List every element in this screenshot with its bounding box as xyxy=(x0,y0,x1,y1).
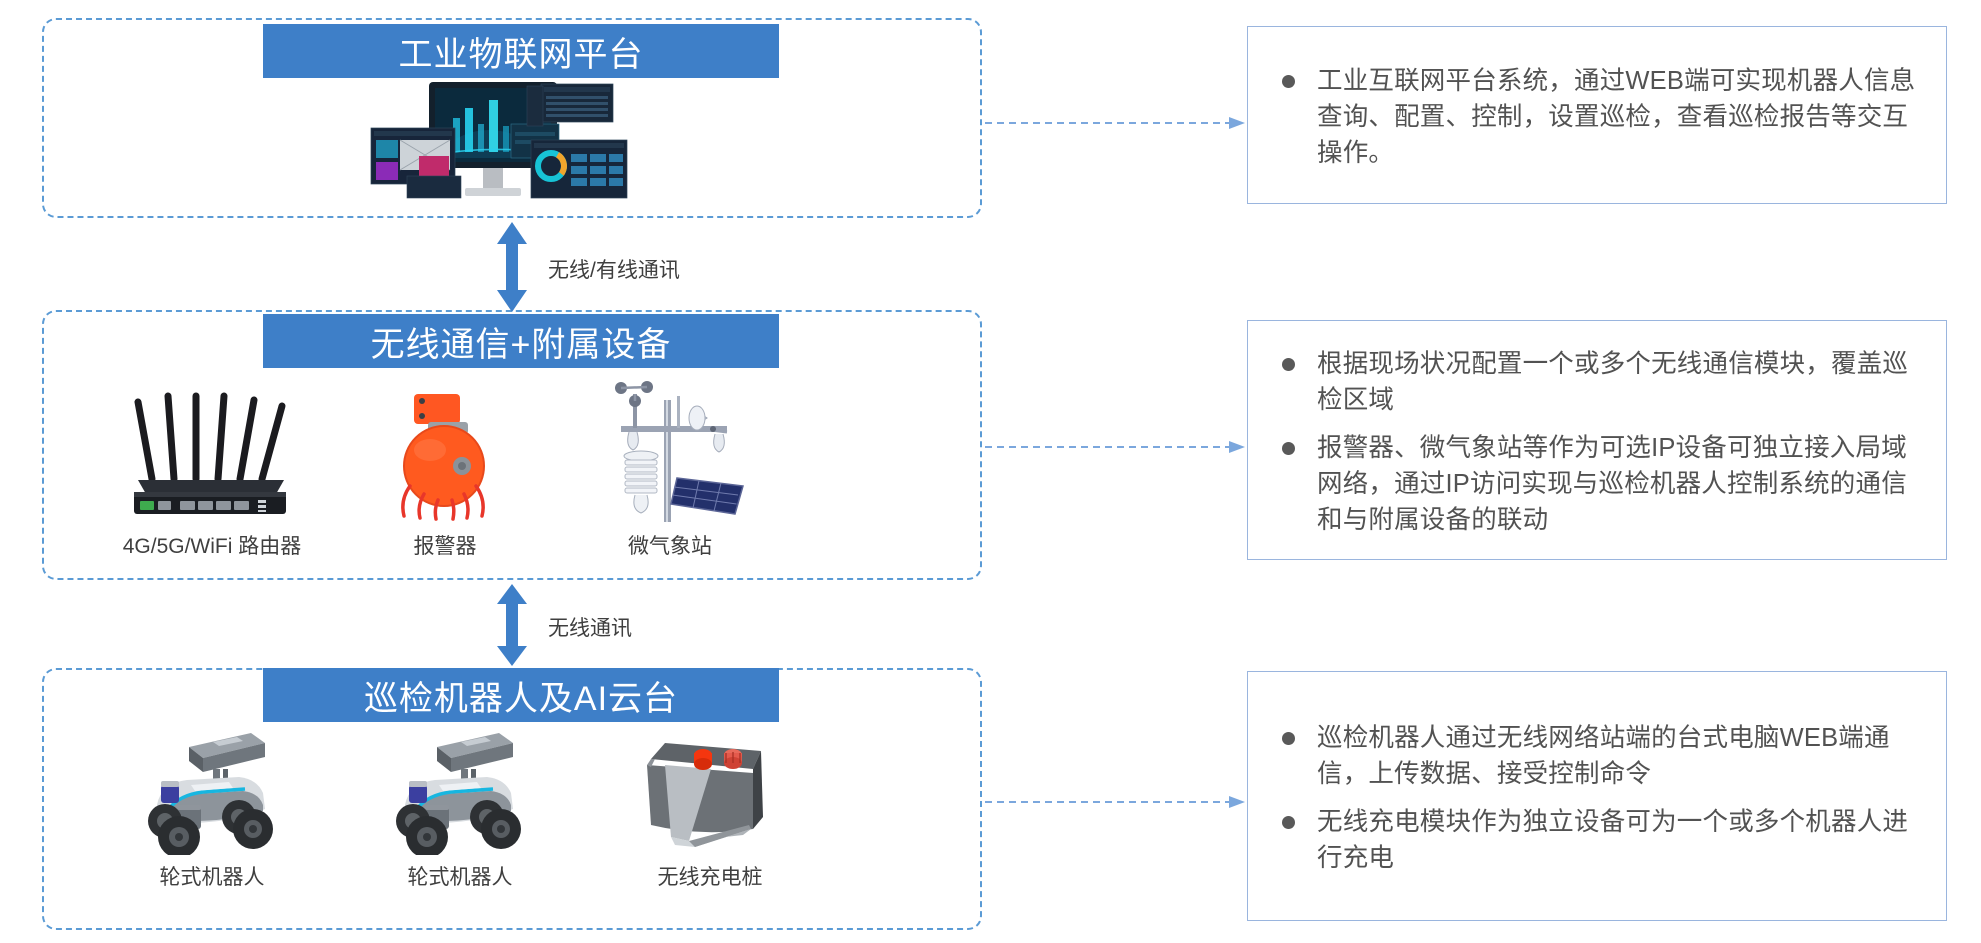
bullet-item: 无线充电模块作为独立设备可为一个或多个机器人进行充电 xyxy=(1274,804,1920,876)
device-charging-station: 无线充电桩 xyxy=(560,725,860,891)
bullet-dot-icon xyxy=(1282,358,1295,371)
description-box-platform: 工业互联网平台系统，通过WEB端可实现机器人信息查询、配置、控制，设置巡检，查看… xyxy=(1247,26,1947,204)
tier-robot-band: 巡检机器人及AI云台 xyxy=(263,668,779,722)
bullet-dot-icon xyxy=(1282,816,1295,829)
bullet-item: 报警器、微气象站等作为可选IP设备可独立接入局域网络，通过IP访问实现与巡检机器… xyxy=(1274,430,1920,539)
wheeled-robot-icon xyxy=(365,725,555,855)
device-router-label: 4G/5G/WiFi 路由器 xyxy=(123,530,302,560)
device-alarm-label: 报警器 xyxy=(414,530,477,560)
description-box-robot: 巡检机器人通过无线网络站端的台式电脑WEB端通信，上传数据、接受控制命令 无线充… xyxy=(1247,671,1947,921)
bullet-dot-icon xyxy=(1282,442,1295,455)
connector-to-desc-platform xyxy=(985,116,1245,130)
device-wheeled-robot-2-label: 轮式机器人 xyxy=(408,861,513,891)
weather-station-icon xyxy=(585,374,755,524)
connector-to-desc-comm xyxy=(985,440,1245,454)
bullet-item: 根据现场状况配置一个或多个无线通信模块，覆盖巡检区域 xyxy=(1274,346,1920,418)
tier-platform-band-label: 工业物联网平台 xyxy=(399,27,644,76)
diagram-canvas: 工业物联网平台 xyxy=(0,0,1981,943)
bullet-dot-icon xyxy=(1282,732,1295,745)
router-icon xyxy=(112,374,312,524)
tier-comm-band-label: 无线通信+附属设备 xyxy=(371,317,672,366)
alarm-bell-icon xyxy=(370,374,520,524)
description-box-comm: 根据现场状况配置一个或多个无线通信模块，覆盖巡检区域 报警器、微气象站等作为可选… xyxy=(1247,320,1947,560)
bullet-text: 工业互联网平台系统，通过WEB端可实现机器人信息查询、配置、控制，设置巡检，查看… xyxy=(1317,63,1920,172)
iot-dashboard-monitor-icon xyxy=(345,80,675,205)
tier-comm-band: 无线通信+附属设备 xyxy=(263,314,779,368)
charging-station-icon xyxy=(625,725,795,855)
tier-platform-band: 工业物联网平台 xyxy=(263,24,779,78)
device-router: 4G/5G/WiFi 路由器 xyxy=(62,374,362,560)
wheeled-robot-icon xyxy=(117,725,307,855)
device-alarm: 报警器 xyxy=(330,374,560,560)
connector-comm-to-robot xyxy=(489,584,535,666)
device-weather-station-label: 微气象站 xyxy=(628,530,712,560)
connector-comm-to-robot-label: 无线通讯 xyxy=(548,612,632,642)
bullet-dot-icon xyxy=(1282,75,1295,88)
device-wheeled-robot-1-label: 轮式机器人 xyxy=(160,861,265,891)
connector-to-desc-robot xyxy=(985,795,1245,809)
bullet-item: 工业互联网平台系统，通过WEB端可实现机器人信息查询、配置、控制，设置巡检，查看… xyxy=(1274,63,1920,172)
connector-platform-to-comm xyxy=(489,222,535,312)
bullet-text: 无线充电模块作为独立设备可为一个或多个机器人进行充电 xyxy=(1317,804,1920,876)
connector-platform-to-comm-label: 无线/有线通讯 xyxy=(548,254,680,284)
device-weather-station: 微气象站 xyxy=(545,374,795,560)
device-charging-station-label: 无线充电桩 xyxy=(658,861,763,891)
bullet-text: 巡检机器人通过无线网络站端的台式电脑WEB端通信，上传数据、接受控制命令 xyxy=(1317,720,1920,792)
tier-robot-band-label: 巡检机器人及AI云台 xyxy=(364,671,678,720)
bullet-text: 报警器、微气象站等作为可选IP设备可独立接入局域网络，通过IP访问实现与巡检机器… xyxy=(1317,430,1920,539)
bullet-text: 根据现场状况配置一个或多个无线通信模块，覆盖巡检区域 xyxy=(1317,346,1920,418)
bullet-item: 巡检机器人通过无线网络站端的台式电脑WEB端通信，上传数据、接受控制命令 xyxy=(1274,720,1920,792)
